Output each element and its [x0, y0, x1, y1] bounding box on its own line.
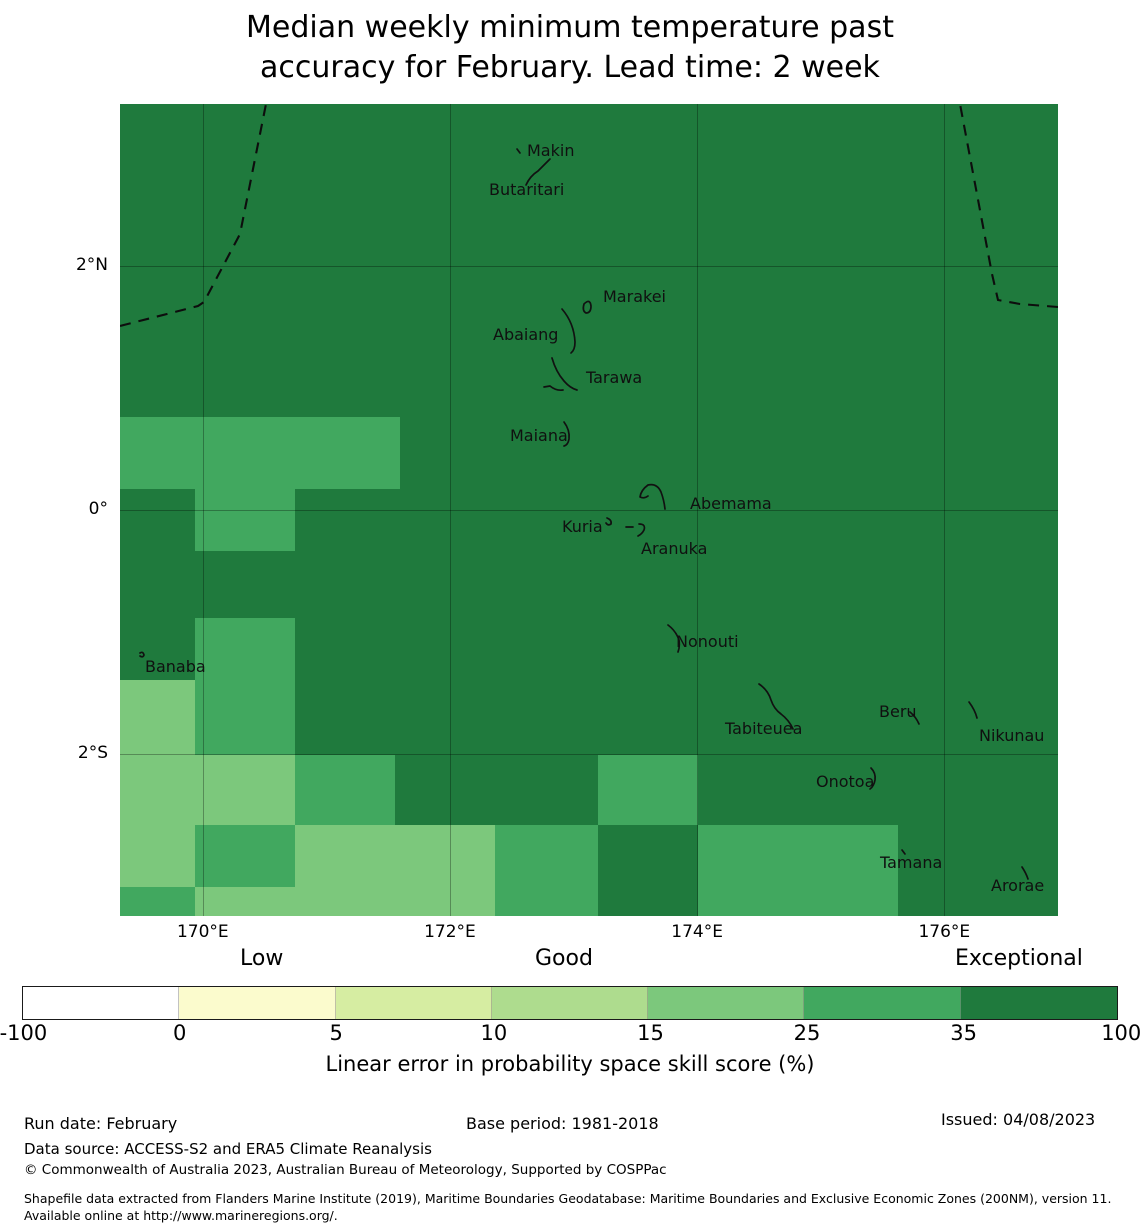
y-tick-label: 2°S: [0, 743, 108, 763]
skill-score-heatmap-map[interactable]: [120, 104, 1058, 916]
colorbar-tick-label: 10: [481, 1021, 508, 1045]
colorbar-segment: [179, 987, 335, 1019]
base-period-text: Base period: 1981-2018: [466, 1114, 659, 1133]
colorbar-segment: [336, 987, 492, 1019]
colorbar-tick-label: 15: [637, 1021, 664, 1045]
island-label: Nikunau: [979, 726, 1044, 745]
island-label: Abaiang: [493, 325, 558, 344]
island-coastline-layer: [120, 104, 1058, 916]
run-date-text: Run date: February: [24, 1114, 177, 1133]
issued-date-text: Issued: 04/08/2023: [941, 1110, 1095, 1129]
colorbar-caption: Good: [535, 946, 593, 971]
colorbar-segment: [648, 987, 804, 1019]
shapefile-attribution-text: Shapefile data extracted from Flanders M…: [24, 1190, 1129, 1224]
colorbar-segment: [492, 987, 648, 1019]
y-tick-label: 2°N: [0, 255, 108, 275]
coastline-makin: [517, 149, 520, 153]
island-label: Marakei: [603, 287, 666, 306]
copyright-text: © Commonwealth of Australia 2023, Austra…: [24, 1162, 667, 1178]
x-tick-label: 172°E: [390, 922, 510, 942]
island-label: Tabiteuea: [725, 719, 802, 738]
colorbar-segment: [804, 987, 960, 1019]
island-label: Arorae: [991, 876, 1044, 895]
title-line-1: Median weekly minimum temperature past: [0, 8, 1140, 48]
island-label: Beru: [879, 702, 917, 721]
island-label: Abemama: [690, 494, 772, 513]
coastline-nikunau: [969, 702, 977, 718]
colorbar[interactable]: [22, 986, 1118, 1020]
colorbar-tick-label: -100: [0, 1021, 47, 1045]
data-source-text: Data source: ACCESS-S2 and ERA5 Climate …: [24, 1140, 432, 1158]
colorbar-tick-label: 25: [794, 1021, 821, 1045]
island-label: Makin: [527, 141, 574, 160]
coastline-banaba: [140, 652, 144, 656]
colorbar-tick-label: 100: [1101, 1021, 1140, 1045]
island-label: Nonouti: [676, 632, 739, 651]
colorbar-tick-label: 35: [950, 1021, 977, 1045]
title-line-2: accuracy for February. Lead time: 2 week: [0, 48, 1140, 88]
colorbar-tick-label: 5: [330, 1021, 343, 1045]
coastline-tarawa: [544, 358, 577, 390]
x-tick-label: 170°E: [143, 922, 263, 942]
colorbar-tick-label: 0: [173, 1021, 186, 1045]
colorbar-caption: Low: [240, 946, 283, 971]
coastline-abaiang: [562, 309, 575, 353]
island-label: Butaritari: [489, 180, 564, 199]
coastline-marakei: [583, 301, 591, 313]
island-label: Tamana: [880, 853, 942, 872]
coastline-aranuka: [626, 524, 644, 536]
island-label: Onotoa: [816, 772, 874, 791]
colorbar-axis-label: Linear error in probability space skill …: [0, 1052, 1140, 1076]
x-tick-label: 176°E: [884, 922, 1004, 942]
x-tick-label: 174°E: [637, 922, 757, 942]
coastline-kuria: [606, 518, 611, 525]
colorbar-segment: [23, 987, 179, 1019]
island-label: Banaba: [145, 657, 206, 676]
island-label: Kuria: [562, 517, 603, 536]
coastline-abemama: [640, 485, 665, 509]
colorbar-captions: LowGoodExceptional: [0, 946, 1140, 976]
island-label: Aranuka: [641, 539, 707, 558]
page-title: Median weekly minimum temperature past a…: [0, 8, 1140, 88]
island-label: Maiana: [510, 426, 568, 445]
colorbar-caption: Exceptional: [955, 946, 1083, 971]
y-tick-label: 0°: [0, 499, 108, 519]
colorbar-segment: [961, 987, 1117, 1019]
island-label: Tarawa: [586, 368, 642, 387]
